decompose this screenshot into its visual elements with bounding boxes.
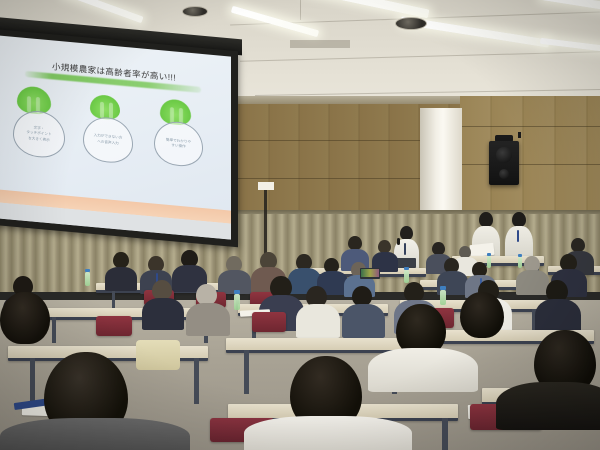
ceiling-vent xyxy=(182,6,208,17)
lecture-hall-photo: 小規模農家は高齢者率が高い!!! 文字・ タッチポイント を大きく表示 xyxy=(0,0,600,450)
ceiling-panel xyxy=(290,40,350,48)
slide-bubble-3: 簡単でわかりや すい操作 xyxy=(154,120,203,168)
audience-head-foreground xyxy=(460,292,504,338)
projection-screen: 小規模農家は高齢者率が高い!!! 文字・ タッチポイント を大きく表示 xyxy=(0,35,231,239)
water-bottle xyxy=(85,272,90,286)
chair xyxy=(252,312,286,332)
audience-head xyxy=(571,238,585,252)
curtain-divider-top xyxy=(258,182,274,190)
microphone-icon xyxy=(397,238,400,245)
audience-body xyxy=(296,304,340,338)
tote-bag xyxy=(136,340,180,370)
water-bottle xyxy=(440,290,446,305)
speaker-mount xyxy=(518,132,521,138)
audience-body xyxy=(142,298,184,330)
water-bottle xyxy=(404,270,409,283)
audience-body xyxy=(516,270,549,295)
audience-body-foreground xyxy=(496,382,600,430)
audience-body xyxy=(105,267,137,291)
presenter-head xyxy=(479,212,493,227)
audience-table xyxy=(226,338,406,353)
presenter-head xyxy=(512,212,526,227)
audience-body-foreground xyxy=(0,418,190,450)
water-bottle xyxy=(487,256,491,268)
water-bottle xyxy=(234,294,240,310)
audience-body-foreground xyxy=(368,348,478,392)
audience-head xyxy=(113,252,129,268)
audience-head xyxy=(352,286,372,306)
lanyard xyxy=(404,243,406,255)
wood-wall-right xyxy=(460,96,600,226)
water-bottle xyxy=(518,257,522,268)
ceiling-vent xyxy=(395,17,427,30)
slide-bubble-2: 入力ができない方 への音声入力 xyxy=(83,115,133,165)
chair xyxy=(96,316,132,336)
audience-body xyxy=(186,303,230,336)
presentation-slide: 小規模農家は高齢者率が高い!!! 文字・ タッチポイント を大きく表示 xyxy=(0,35,231,239)
slide-bubble-1: 文字・ タッチポイント を大きく表示 xyxy=(13,109,65,160)
lanyard xyxy=(517,230,519,242)
audience-head xyxy=(152,280,172,300)
loudspeaker-icon xyxy=(489,141,519,185)
ceiling-seam xyxy=(300,0,301,20)
audience-head xyxy=(404,282,424,302)
audience-head xyxy=(348,236,362,250)
laptop-screen xyxy=(361,269,379,277)
audience-body-foreground xyxy=(244,416,412,450)
audience-head xyxy=(196,284,217,305)
presenter-head xyxy=(400,226,413,240)
audience-body xyxy=(342,304,385,338)
audience-head-foreground xyxy=(0,292,50,344)
